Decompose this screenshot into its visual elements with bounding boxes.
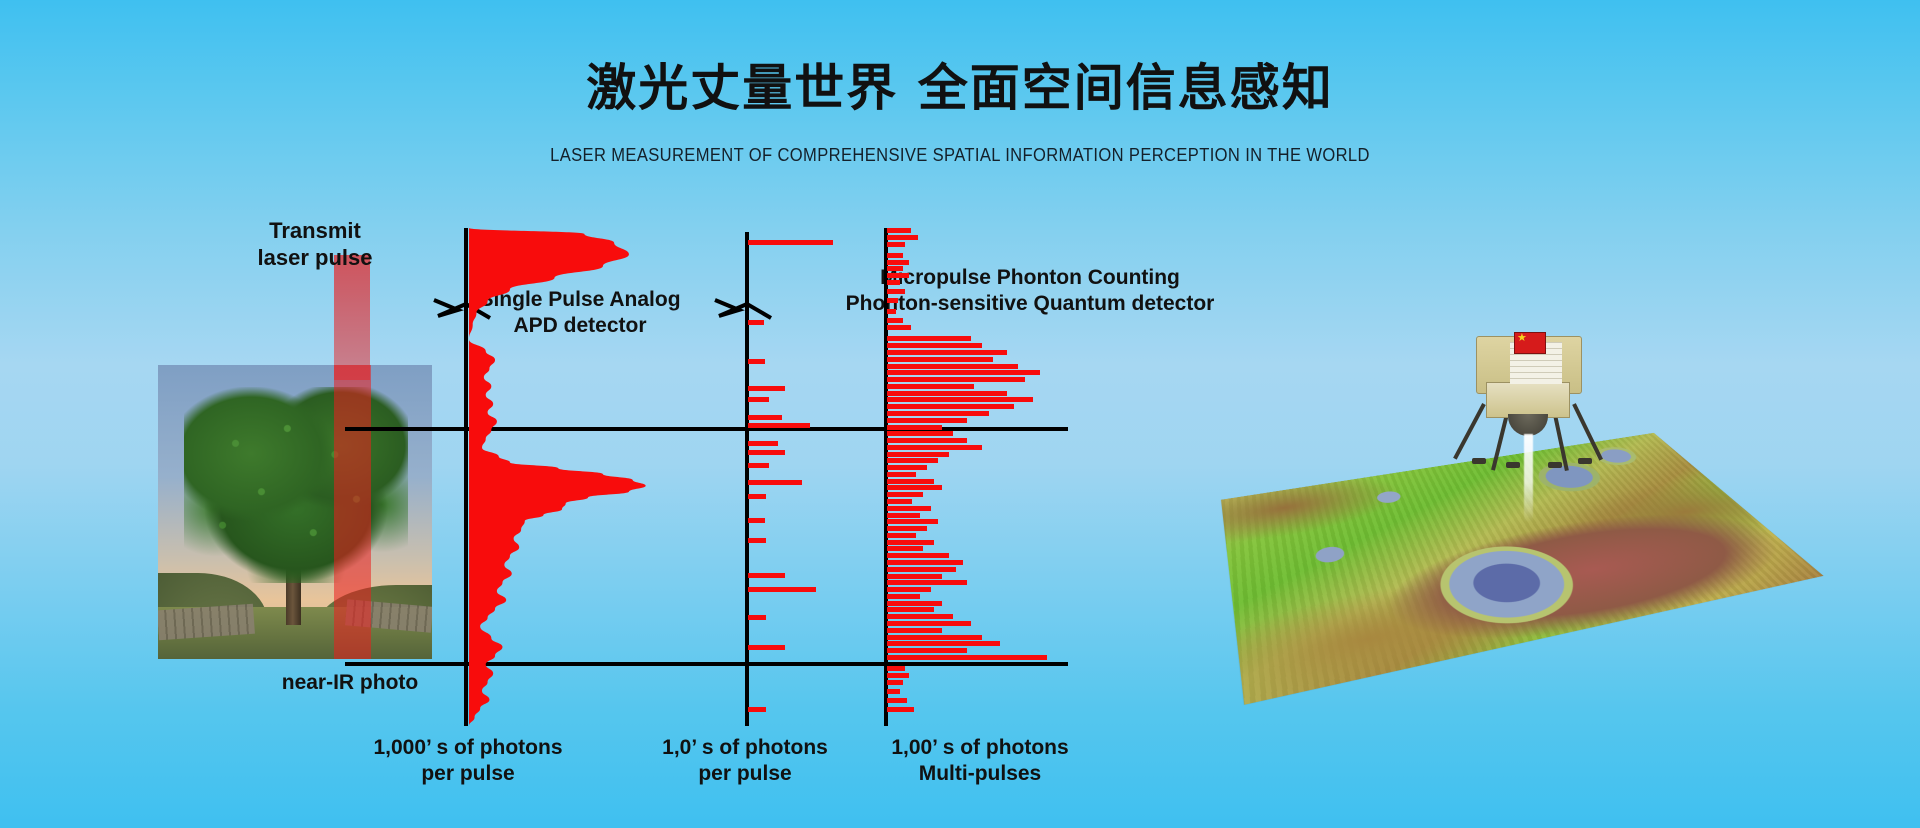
histogram-bar: [887, 607, 934, 612]
histogram-bar: [887, 492, 923, 497]
lander-foot-2: [1548, 462, 1562, 468]
lander-engine-nozzle: [1508, 414, 1548, 436]
histogram-bar: [887, 384, 974, 389]
histogram-bar: [887, 666, 905, 671]
histogram-bar: [887, 594, 920, 599]
histogram-bar: [887, 431, 953, 436]
lunar-terrain-illustration: [1180, 330, 1900, 750]
histogram-bar: [887, 425, 942, 430]
lander-laser-beam: [1524, 434, 1533, 522]
histogram-bar: [887, 404, 1014, 409]
lander-foot-3: [1472, 458, 1486, 464]
lander-leg-2: [1572, 403, 1603, 460]
histogram-bar: [887, 641, 1000, 646]
photo-canopy-highlights: [188, 395, 404, 581]
histogram-bar: [887, 546, 923, 551]
histogram-bar: [887, 655, 1047, 660]
histogram-bar: [887, 370, 1040, 375]
histogram-bar: [887, 228, 911, 233]
histogram-bar: [887, 418, 967, 423]
histogram-bar: [887, 289, 905, 294]
histogram-bar: [748, 415, 782, 420]
histogram-bar: [887, 648, 967, 653]
histogram-bar: [887, 235, 918, 240]
histogram-bar: [887, 485, 942, 490]
histogram-bar: [748, 359, 765, 364]
histogram-bar: [887, 266, 903, 271]
histogram-bar: [887, 309, 896, 314]
histogram-bar: [887, 438, 967, 443]
histogram-bar: [887, 298, 898, 303]
near-ir-photo-label: near-IR photo: [240, 670, 460, 696]
histogram-bar: [748, 587, 816, 592]
histogram-bar: [887, 318, 903, 323]
histogram-bar: [887, 707, 914, 712]
histogram-bar: [887, 580, 967, 585]
histogram-bar: [887, 260, 909, 265]
histogram-bar: [887, 377, 1025, 382]
histogram-bar: [887, 465, 927, 470]
histogram-bar: [887, 458, 938, 463]
page-title: 激光丈量世界 全面空间信息感知: [0, 48, 1920, 120]
near-ir-tree-photo: [158, 365, 432, 659]
histogram-bar: [887, 567, 956, 572]
china-flag-icon: [1514, 332, 1546, 354]
histogram-bar: [887, 698, 907, 703]
laser-beam-overlay: [334, 365, 371, 659]
histogram-bar: [748, 441, 778, 446]
histogram-bar: [887, 587, 931, 592]
histogram-bar: [748, 494, 766, 499]
histogram-bar: [887, 628, 942, 633]
lander-lower-deck: [1486, 382, 1570, 418]
histogram-bar: [887, 680, 903, 685]
lander-foot-4: [1578, 458, 1592, 464]
histogram-bar: [748, 463, 769, 468]
histogram-bar: [887, 397, 1033, 402]
histogram-bar: [748, 423, 810, 428]
banner-stage: 激光丈量世界 全面空间信息感知 LASER MEASUREMENT OF COM…: [0, 0, 1920, 828]
histogram-bar: [748, 645, 785, 650]
histogram-bar: [887, 253, 903, 258]
histogram-bar: [748, 450, 785, 455]
histogram-bar: [887, 445, 982, 450]
transmit-laser-beam: [334, 255, 370, 380]
chart-single-pulse-analog-waveform: [466, 228, 666, 726]
colorized-dem-surface: [1221, 433, 1823, 705]
histogram-bar: [887, 391, 1007, 396]
histogram-bar: [887, 364, 1018, 369]
histogram-bar: [887, 540, 934, 545]
histogram-bar: [887, 411, 989, 416]
histogram-bar: [887, 472, 916, 477]
histogram-bar: [887, 350, 1007, 355]
histogram-bar: [887, 560, 963, 565]
histogram-bar: [887, 325, 911, 330]
histogram-bar: [887, 601, 942, 606]
histogram-bar: [887, 519, 938, 524]
histogram-bar: [887, 553, 949, 558]
histogram-bar: [748, 397, 769, 402]
histogram-bar: [887, 357, 993, 362]
histogram-bar: [748, 480, 802, 485]
histogram-bar: [887, 635, 982, 640]
chart-few-photon-histogram: [748, 232, 898, 726]
histogram-bar: [887, 452, 949, 457]
histogram-bar: [887, 506, 931, 511]
histogram-bar: [748, 386, 785, 391]
histogram-bar: [887, 513, 920, 518]
lander-leg-1: [1453, 403, 1486, 460]
transmit-laser-pulse-label: Transmit laser pulse: [210, 218, 420, 272]
histogram-bar: [887, 479, 934, 484]
footer-label-few-photon: 1,0’ s of photons per pulse: [640, 735, 850, 788]
histogram-bar: [887, 273, 909, 278]
histogram-bar: [887, 574, 942, 579]
histogram-bar: [887, 280, 900, 285]
histogram-bar: [887, 614, 953, 619]
histogram-bar: [887, 526, 927, 531]
histogram-bar: [748, 240, 833, 245]
page-subtitle: LASER MEASUREMENT OF COMPREHENSIVE SPATI…: [77, 145, 1843, 166]
histogram-bar: [748, 615, 766, 620]
histogram-bar: [887, 689, 900, 694]
histogram-bar: [887, 621, 971, 626]
lander-foot-1: [1506, 462, 1520, 468]
histogram-bar: [748, 518, 765, 523]
histogram-bar: [887, 499, 912, 504]
histogram-bar: [887, 673, 909, 678]
chart-micropulse-photon-histogram: [887, 228, 1077, 726]
histogram-bar: [887, 343, 982, 348]
footer-label-multi-pulse: 1,00’ s of photons Multi-pulses: [870, 735, 1090, 788]
histogram-bar: [887, 242, 905, 247]
histogram-bar: [887, 336, 971, 341]
histogram-bar: [748, 320, 764, 325]
histogram-bar: [748, 707, 766, 712]
footer-label-analog: 1,000’ s of photons per pulse: [348, 735, 588, 788]
histogram-bar: [887, 533, 916, 538]
histogram-bar: [748, 573, 785, 578]
lunar-lander: [1452, 330, 1602, 460]
histogram-bar: [748, 538, 766, 543]
